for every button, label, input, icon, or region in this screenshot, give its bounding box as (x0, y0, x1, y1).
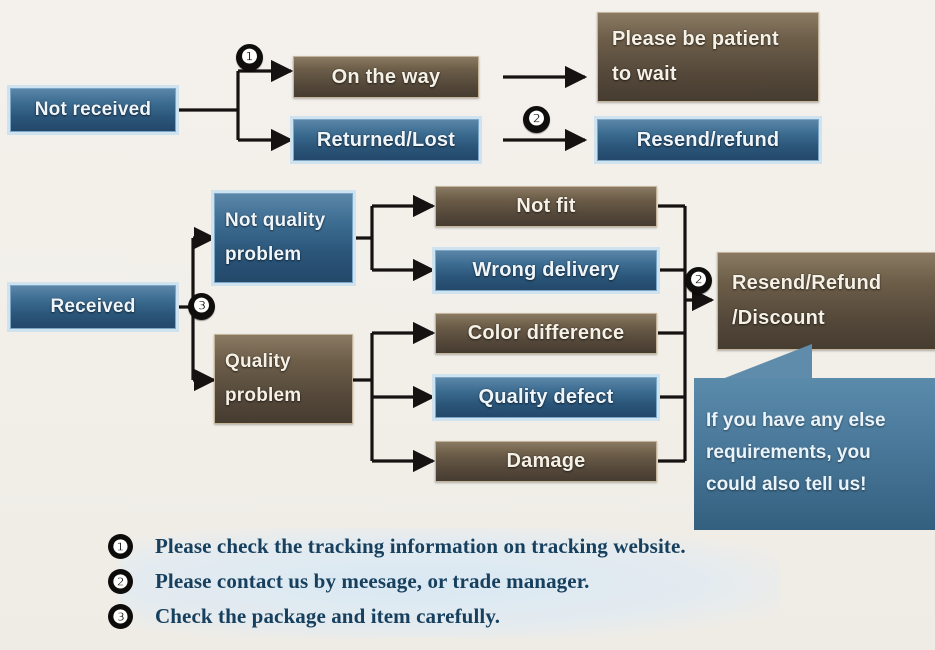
bubble-line-2: requirements, you (706, 442, 923, 464)
marker-2-resend-refund-discount: ❷ (685, 267, 712, 294)
node-label-line-1: Please be patient (612, 28, 779, 51)
legend-text-2: Please contact us by meesage, or trade m… (155, 569, 590, 594)
flowchart-poster: Not received On the way Returned/Lost Pl… (0, 0, 935, 650)
node-label-line-1: Quality (225, 351, 291, 373)
marker-1-not-received: ❶ (236, 44, 263, 71)
legend-block: ❶ Please check the tracking information … (0, 528, 935, 640)
node-label: Not fit (516, 195, 575, 218)
node-label-line-2: problem (225, 385, 301, 407)
node-quality-problem[interactable]: Quality problem (214, 334, 353, 424)
node-label: Received (50, 296, 135, 318)
node-on-the-way[interactable]: On the way (293, 56, 479, 98)
node-resend-refund-discount[interactable]: Resend/Refund /Discount (717, 252, 935, 350)
node-label: Not received (35, 99, 151, 121)
node-color-difference[interactable]: Color difference (435, 313, 657, 354)
bubble-line-3: could also tell us! (706, 474, 923, 496)
bubble-line-1: If you have any else (706, 410, 923, 432)
legend-item-2: ❷ Please contact us by meesage, or trade… (108, 569, 590, 594)
marker-number: ❶ (241, 48, 258, 67)
node-label-line-2: problem (225, 244, 301, 266)
node-received[interactable]: Received (10, 285, 176, 329)
marker-number: ❷ (690, 271, 707, 290)
node-label-line-1: Resend/Refund (732, 272, 881, 295)
node-label: Wrong delivery (473, 259, 620, 282)
node-not-received[interactable]: Not received (10, 88, 176, 132)
marker-number: ❷ (528, 110, 545, 129)
node-label-line-2: to wait (612, 63, 677, 86)
node-not-quality-problem[interactable]: Not quality problem (214, 193, 353, 283)
node-quality-defect[interactable]: Quality defect (435, 377, 657, 418)
node-label: Resend/refund (637, 129, 780, 152)
legend-item-3: ❸ Check the package and item carefully. (108, 604, 500, 629)
legend-badge-1: ❶ (108, 534, 133, 559)
speech-bubble-note: If you have any else requirements, you c… (694, 378, 935, 530)
node-please-be-patient[interactable]: Please be patient to wait (597, 12, 819, 102)
node-label-line-1: Not quality (225, 210, 325, 232)
marker-3-received: ❸ (188, 293, 215, 320)
marker-number: ❸ (193, 297, 210, 316)
legend-badge-3: ❸ (108, 604, 133, 629)
node-label: Color difference (468, 322, 625, 345)
node-label: Quality defect (478, 386, 613, 409)
node-returned-lost[interactable]: Returned/Lost (293, 119, 479, 161)
legend-text-3: Check the package and item carefully. (155, 604, 500, 629)
node-label: Returned/Lost (317, 129, 455, 152)
node-label-line-2: /Discount (732, 307, 825, 330)
node-label: Damage (506, 450, 585, 473)
node-not-fit[interactable]: Not fit (435, 186, 657, 227)
legend-badge-2: ❷ (108, 569, 133, 594)
node-resend-refund[interactable]: Resend/refund (597, 119, 819, 161)
node-wrong-delivery[interactable]: Wrong delivery (435, 250, 657, 291)
marker-2-resend-refund: ❷ (523, 106, 550, 133)
node-label: On the way (332, 66, 441, 89)
legend-text-1: Please check the tracking information on… (155, 534, 686, 559)
legend-item-1: ❶ Please check the tracking information … (108, 534, 686, 559)
node-damage[interactable]: Damage (435, 441, 657, 482)
